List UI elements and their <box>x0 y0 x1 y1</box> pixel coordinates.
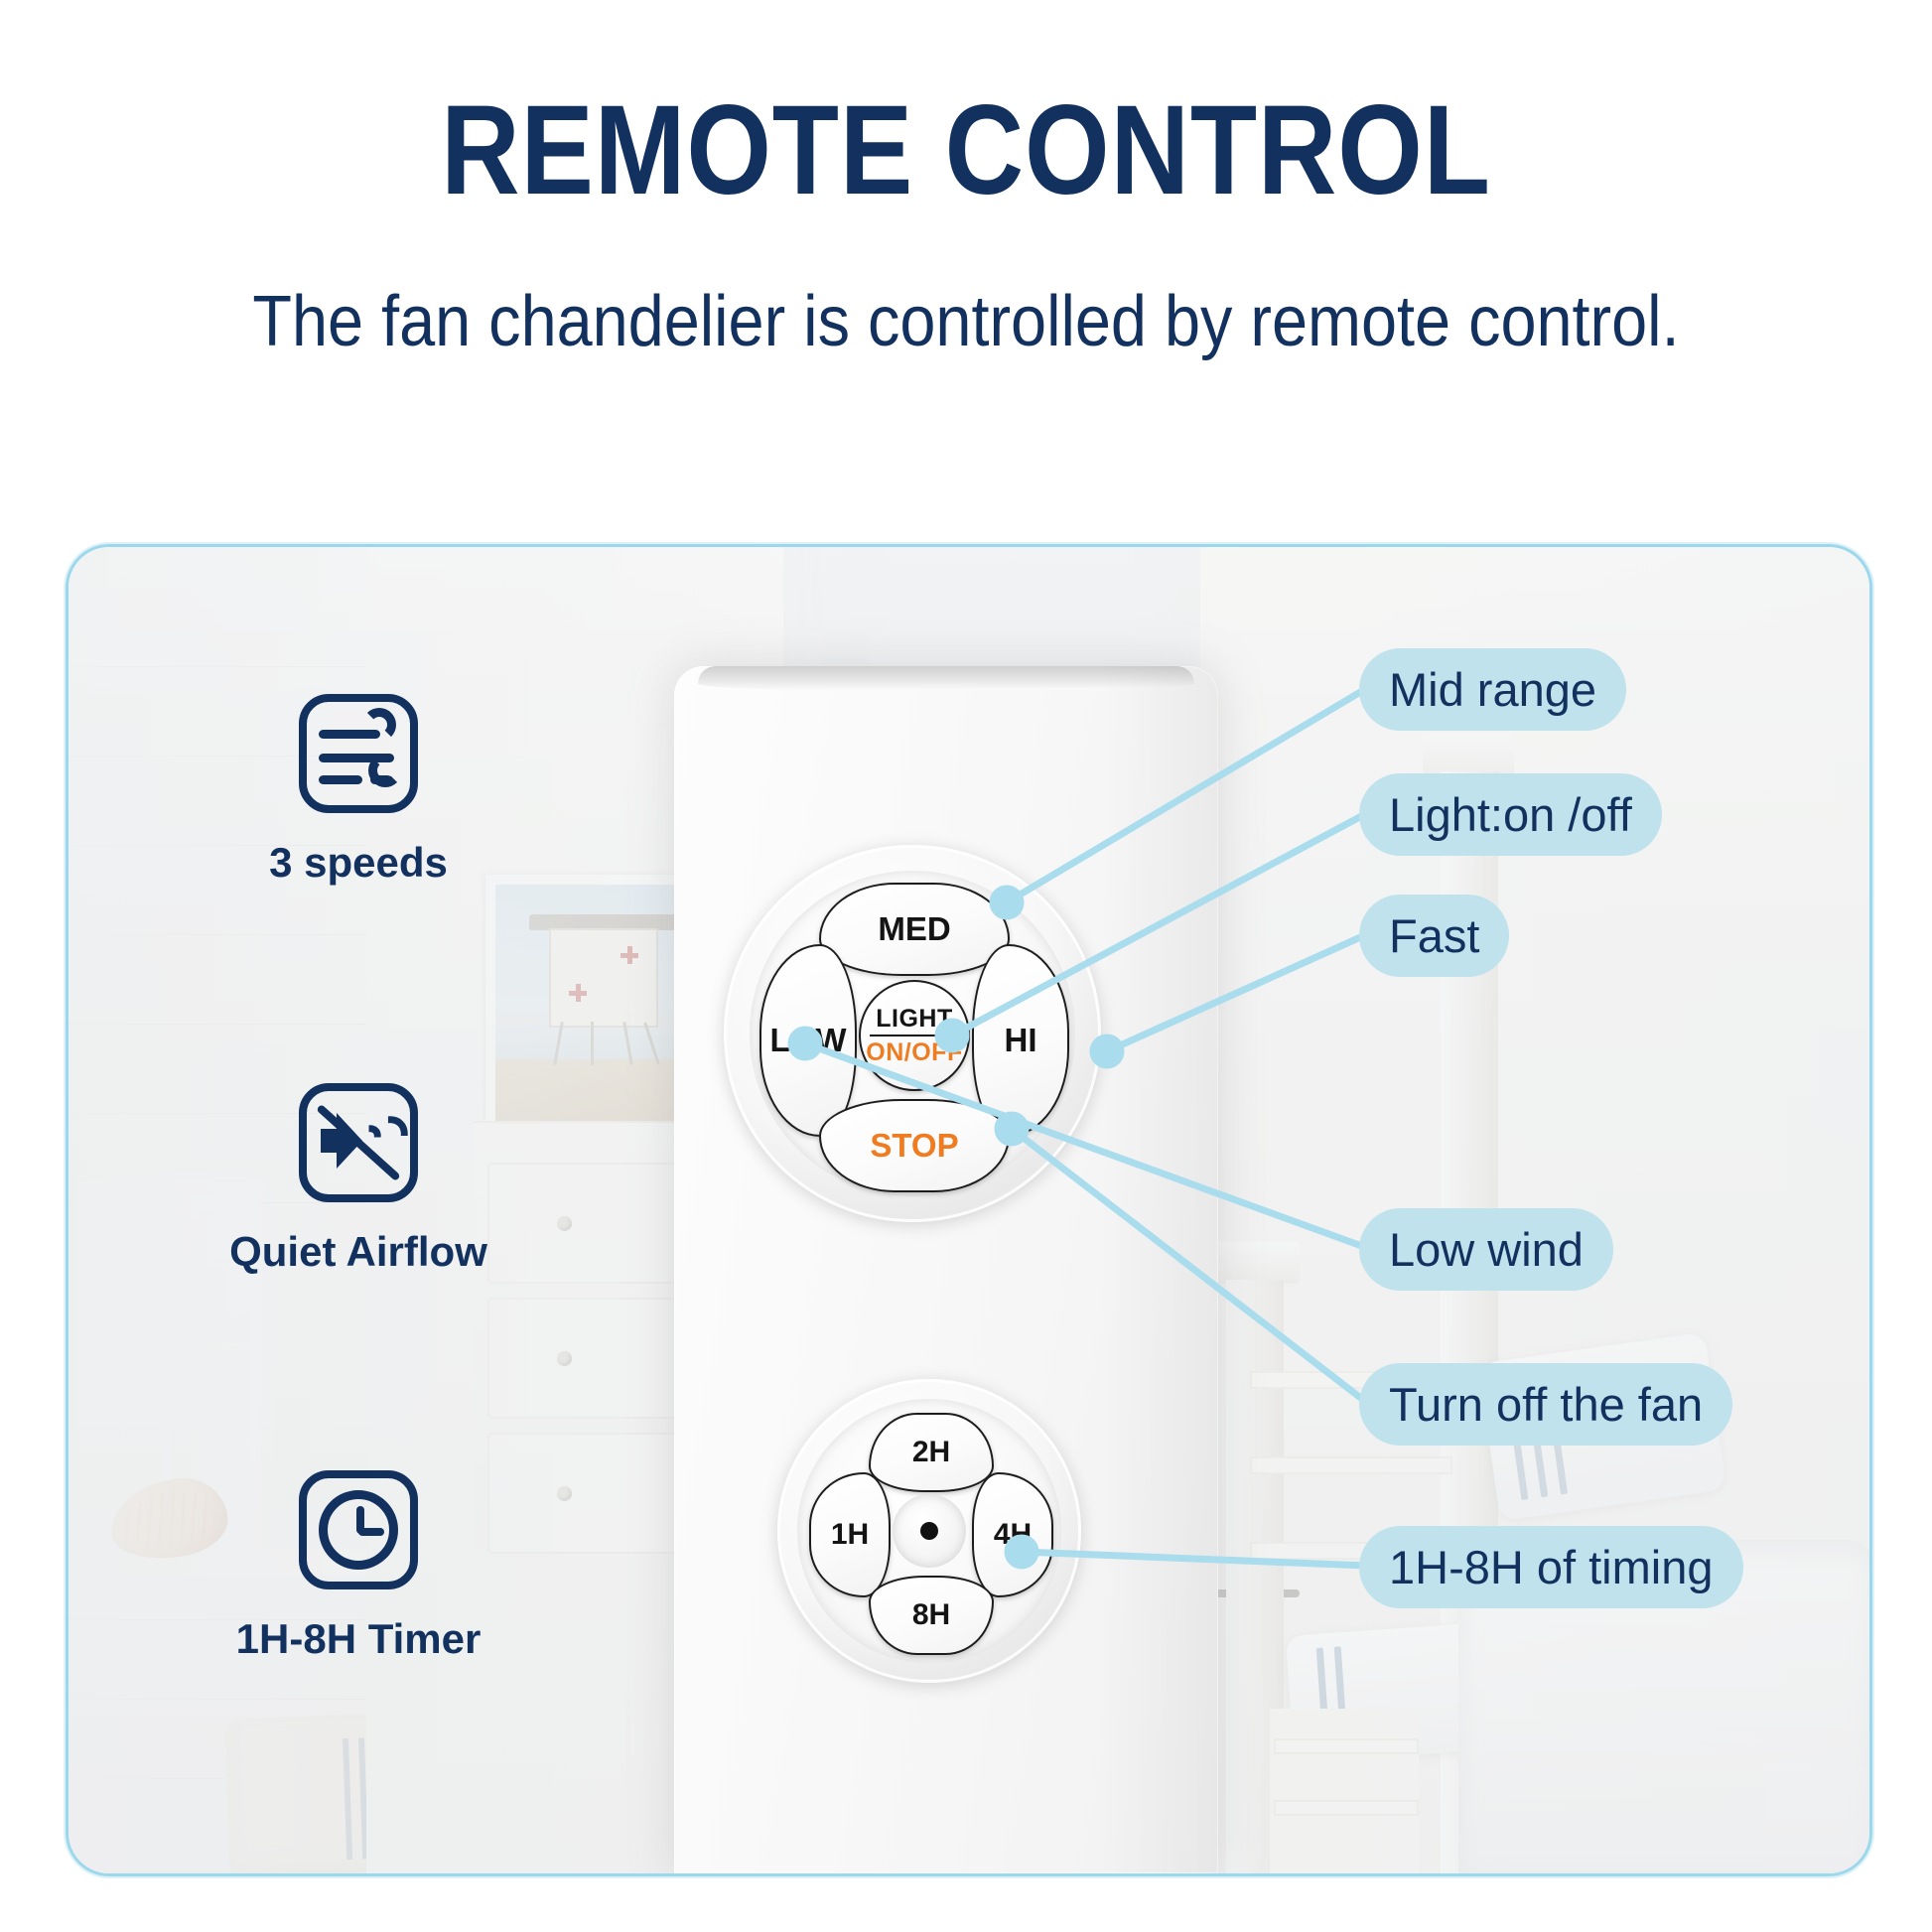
fan-speed-dial: MED LOW HI STOP LIGHT ON/OFF <box>724 845 1101 1222</box>
fan-button-low[interactable]: LOW <box>759 944 857 1137</box>
mute-icon <box>299 1083 418 1202</box>
callout-fast: Fast <box>1359 895 1509 977</box>
page-subtitle: The fan chandelier is controlled by remo… <box>96 286 1835 357</box>
callout-1h-8h-timing: 1H-8H of timing <box>1359 1526 1743 1608</box>
remote-edge-shading <box>1099 666 1218 1873</box>
callout-light-on-off: Light:on /off <box>1359 773 1662 856</box>
clock-icon <box>299 1470 418 1589</box>
light-label: LIGHT <box>870 1006 959 1035</box>
product-card: 3 speeds Quiet Airflow 1H-8H Timer MED L… <box>66 544 1872 1876</box>
wind-icon <box>299 694 418 813</box>
feature-label: 1H-8H Timer <box>209 1615 507 1663</box>
timer-dial: 2H 1H 4H 8H <box>777 1379 1081 1683</box>
onoff-label: ON/OFF <box>866 1036 962 1065</box>
feature-label: Quiet Airflow <box>209 1228 507 1276</box>
timer-button-1h[interactable]: 1H <box>809 1472 891 1597</box>
callout-mid-range: Mid range <box>1359 648 1626 731</box>
feature-timer: 1H-8H Timer <box>209 1470 507 1663</box>
light-onoff-button[interactable]: LIGHT ON/OFF <box>859 980 970 1091</box>
callout-low-wind: Low wind <box>1359 1208 1613 1291</box>
timer-button-2h[interactable]: 2H <box>869 1413 994 1492</box>
fan-button-med[interactable]: MED <box>819 883 1010 976</box>
feature-3-speeds: 3 speeds <box>209 694 507 887</box>
callout-turn-off-fan: Turn off the fan <box>1359 1363 1732 1446</box>
fan-button-stop[interactable]: STOP <box>819 1099 1010 1192</box>
feature-label: 3 speeds <box>209 839 507 887</box>
page-header: REMOTE CONTROL The fan chandelier is con… <box>0 0 1932 427</box>
feature-quiet-airflow: Quiet Airflow <box>209 1083 507 1276</box>
timer-center-dot <box>920 1522 938 1540</box>
page-title: REMOTE CONTROL <box>135 87 1797 214</box>
timer-button-8h[interactable]: 8H <box>869 1576 994 1655</box>
